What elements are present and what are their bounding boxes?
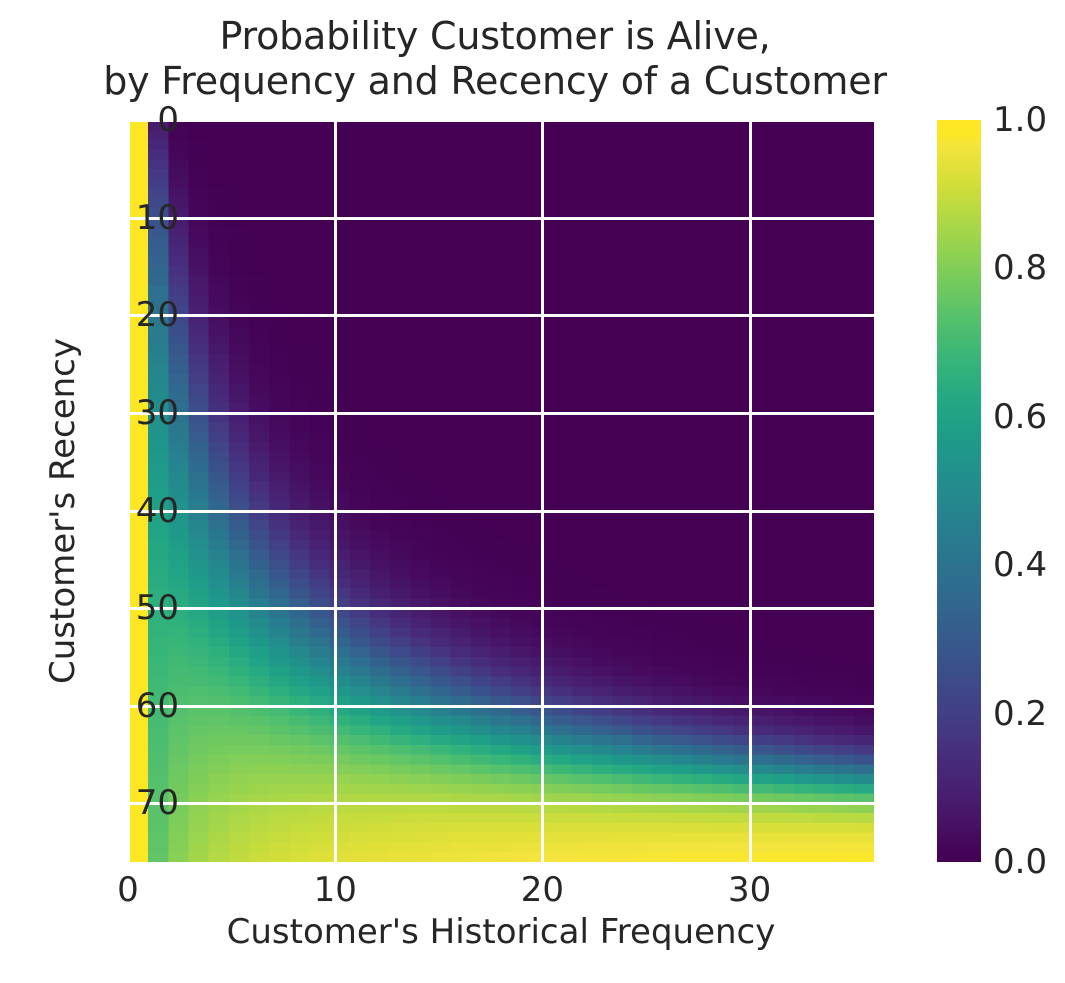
y-tick-label: 30: [136, 393, 179, 433]
x-tick-label: 20: [521, 870, 564, 910]
colorbar-tick-label: 0.0: [993, 842, 1047, 882]
y-tick-label: 10: [136, 198, 179, 238]
x-tick-label: 30: [728, 870, 771, 910]
chart-title: Probability Customer is Alive, by Freque…: [0, 14, 990, 104]
y-tick-label: 40: [136, 491, 179, 531]
colorbar-tick-label: 1.0: [993, 100, 1047, 140]
colorbar-tick-label: 0.4: [993, 545, 1047, 585]
x-tick-label: 10: [314, 870, 357, 910]
y-tick-label: 70: [136, 783, 179, 823]
colorbar-tick-label: 0.2: [993, 694, 1047, 734]
y-tick-label: 60: [136, 686, 179, 726]
y-axis-label: Customer's Recency: [43, 140, 83, 882]
x-axis-label: Customer's Historical Frequency: [128, 912, 874, 952]
y-tick-label: 50: [136, 588, 179, 628]
colorbar: [937, 120, 981, 862]
figure-canvas: Probability Customer is Alive, by Freque…: [0, 0, 1065, 983]
y-tick-label: 0: [157, 100, 179, 140]
y-tick-label: 20: [136, 295, 179, 335]
colorbar-tick-label: 0.8: [993, 248, 1047, 288]
x-tick-label: 0: [117, 870, 139, 910]
colorbar-gradient: [937, 120, 981, 862]
colorbar-tick-label: 0.6: [993, 397, 1047, 437]
heatmap-plot-area: [128, 120, 874, 862]
heatmap-image: [128, 120, 874, 862]
